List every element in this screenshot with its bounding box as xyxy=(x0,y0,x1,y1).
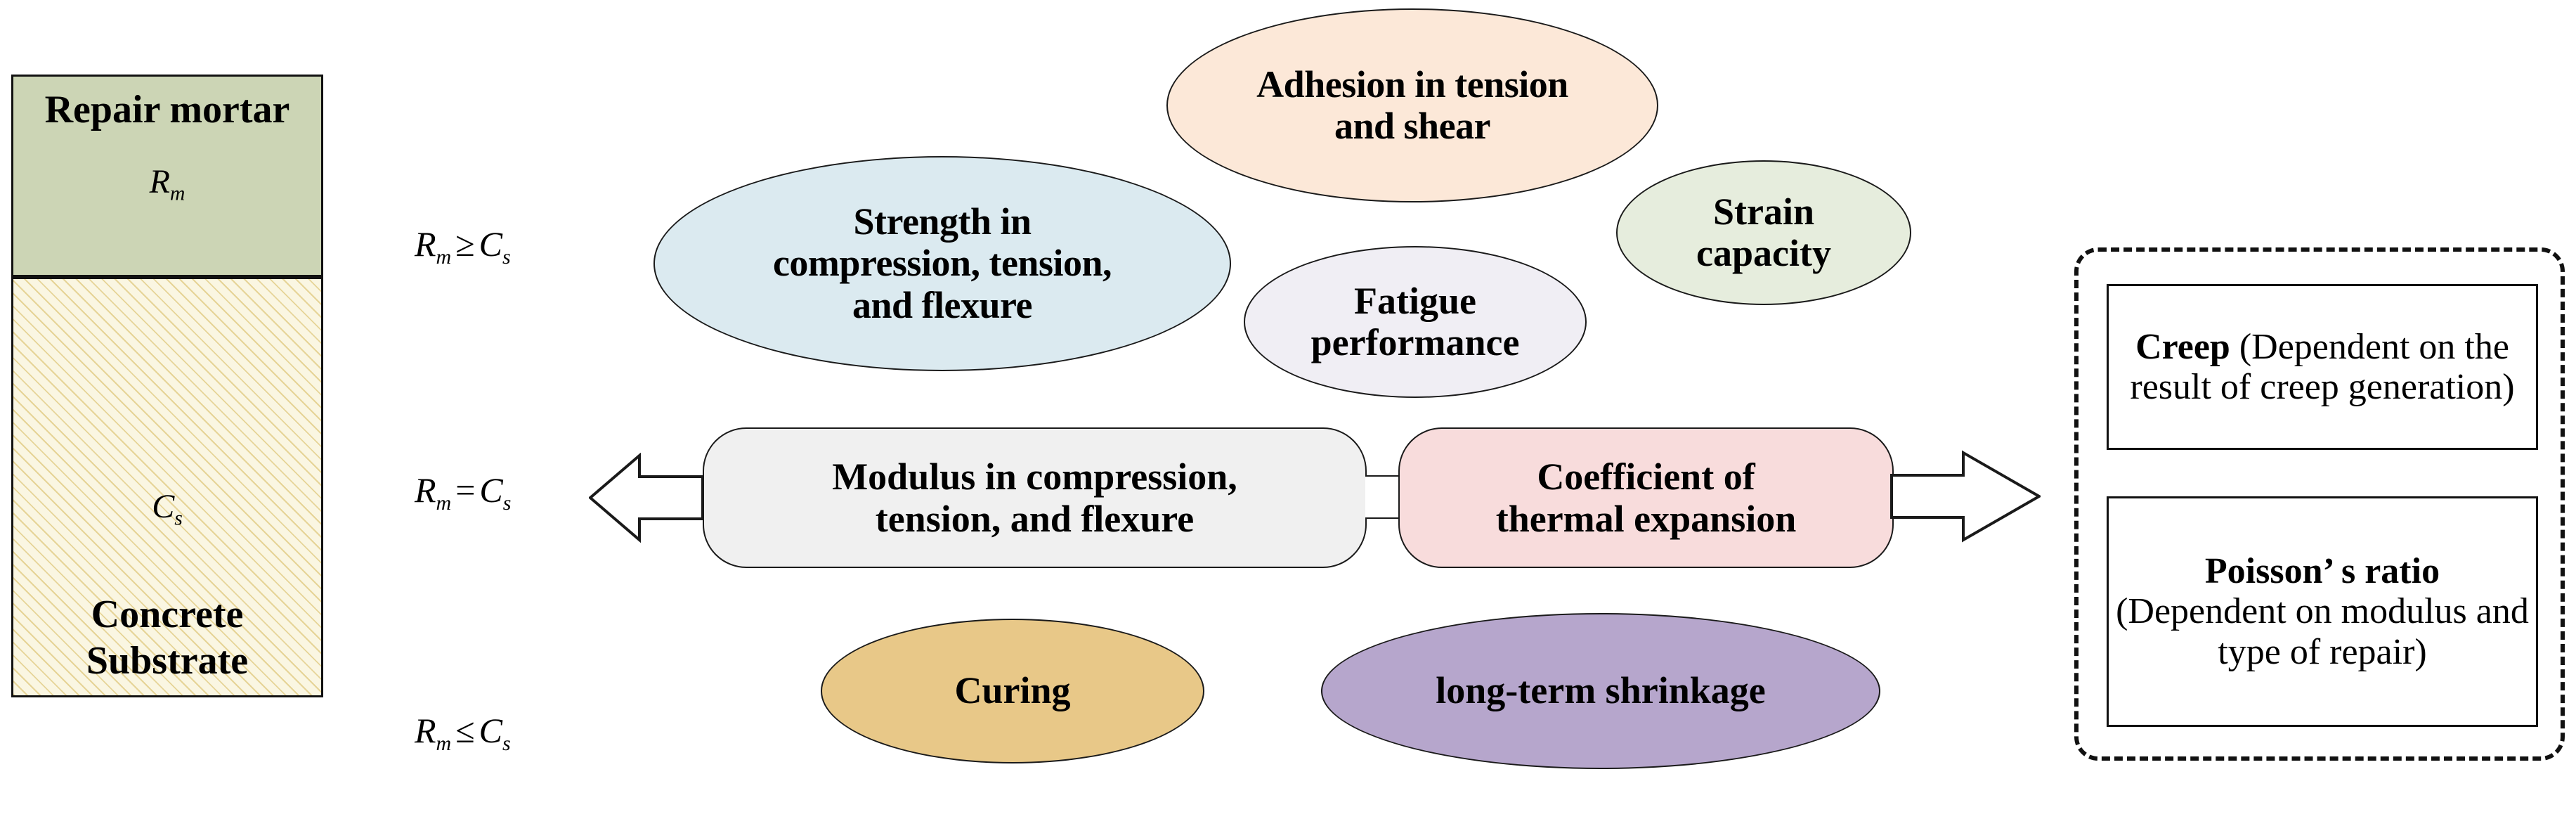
box-creep-title: Creep xyxy=(2135,327,2230,367)
ellipse-strain: Strain capacity xyxy=(1616,160,1911,305)
repair-mortar-symbol: Rm xyxy=(150,162,186,206)
box-creep-text: Creep (Dependent on the result of creep … xyxy=(2109,327,2536,407)
ellipse-strain-line1: Strain xyxy=(1696,191,1831,233)
repair-mortar-symbol-sub: m xyxy=(170,182,186,205)
box-modulus-line1: Modulus in compression, xyxy=(832,456,1237,498)
left-block-arrow-icon xyxy=(589,453,704,543)
box-modulus-text: Modulus in compression, tension, and fle… xyxy=(832,456,1237,541)
ellipse-strain-text: Strain capacity xyxy=(1696,191,1831,275)
concrete-substrate-block: Cs Concrete Substrate xyxy=(11,277,323,697)
ellipse-strain-line2: capacity xyxy=(1696,233,1831,274)
ellipse-adhesion-line1: Adhesion in tension xyxy=(1256,64,1568,105)
box-coefficient-thermal-expansion: Coefficient of thermal expansion xyxy=(1398,427,1894,568)
ellipse-shrinkage-text: long-term shrinkage xyxy=(1436,670,1765,711)
ellipse-fatigue-line2: performance xyxy=(1311,322,1520,363)
relation-eq-lhs-sub: m xyxy=(436,491,452,515)
relation-le-rhs-sub: s xyxy=(502,732,511,755)
relation-le-rhs: C xyxy=(479,711,502,750)
ellipse-strength-text: Strength in compression, tension, and fl… xyxy=(773,201,1112,326)
relation-ge-lhs: R xyxy=(415,224,436,264)
box-cte-line2: thermal expansion xyxy=(1496,498,1797,540)
box-cte-line1: Coefficient of xyxy=(1496,456,1797,498)
ellipse-strength: Strength in compression, tension, and fl… xyxy=(653,156,1231,371)
ellipse-fatigue-line1: Fatigue xyxy=(1311,281,1520,322)
ellipse-strength-line1: Strength in xyxy=(773,201,1112,243)
repair-mortar-symbol-base: R xyxy=(150,163,170,200)
concrete-substrate-symbol: Cs xyxy=(152,487,183,531)
relation-ge-rhs: C xyxy=(479,224,502,264)
ellipse-adhesion-line2: and shear xyxy=(1256,105,1568,147)
relation-greater-equal: Rm≥Cs xyxy=(415,224,511,269)
relation-ge-lhs-sub: m xyxy=(436,245,452,269)
box-poisson-text: Poisson’ s ratio (Dependent on modulus a… xyxy=(2109,551,2536,672)
box-modulus-line2: tension, and flexure xyxy=(832,498,1237,540)
ellipse-curing-text: Curing xyxy=(954,670,1070,711)
relation-eq-rhs-sub: s xyxy=(503,491,512,515)
diagram-canvas: Repair mortar Rm Cs Concrete Substrate R… xyxy=(0,0,2576,838)
ellipse-adhesion: Adhesion in tension and shear xyxy=(1166,8,1658,202)
ellipse-adhesion-text: Adhesion in tension and shear xyxy=(1256,64,1568,148)
relation-eq-lhs: R xyxy=(415,470,436,510)
box-poisson-ratio: Poisson’ s ratio (Dependent on modulus a… xyxy=(2107,496,2538,727)
box-poisson-note: (Dependent on modulus and type of repair… xyxy=(2116,591,2529,671)
relation-le-operator: ≤ xyxy=(451,711,479,750)
box-poisson-title: Poisson’ s ratio xyxy=(2109,551,2536,591)
ellipse-strength-line3: and flexure xyxy=(773,285,1112,326)
modulus-cte-connector xyxy=(1365,475,1402,519)
relation-le-lhs-sub: m xyxy=(436,732,452,755)
relation-eq-rhs: C xyxy=(479,470,502,510)
relation-eq-operator: = xyxy=(451,470,479,510)
ellipse-shrinkage: long-term shrinkage xyxy=(1321,613,1880,769)
relation-ge-operator: ≥ xyxy=(451,224,479,264)
concrete-substrate-label: Concrete Substrate xyxy=(13,591,321,684)
right-block-arrow-icon xyxy=(1890,447,2041,546)
box-cte-text: Coefficient of thermal expansion xyxy=(1496,456,1797,541)
concrete-substrate-symbol-sub: s xyxy=(174,507,183,530)
concrete-substrate-symbol-base: C xyxy=(152,488,174,525)
ellipse-strength-line2: compression, tension, xyxy=(773,243,1112,284)
relation-ge-rhs-sub: s xyxy=(502,245,511,269)
repair-mortar-block: Repair mortar Rm xyxy=(11,75,323,277)
box-modulus: Modulus in compression, tension, and fle… xyxy=(703,427,1367,568)
relation-equal: Rm=Cs xyxy=(415,470,511,515)
ellipse-fatigue: Fatigue performance xyxy=(1244,246,1587,398)
relation-le-lhs: R xyxy=(415,711,436,750)
box-creep: Creep (Dependent on the result of creep … xyxy=(2107,284,2538,450)
ellipse-fatigue-text: Fatigue performance xyxy=(1311,281,1520,364)
relation-less-equal: Rm≤Cs xyxy=(415,710,511,756)
repair-mortar-label: Repair mortar xyxy=(45,86,290,133)
ellipse-curing: Curing xyxy=(821,619,1204,763)
